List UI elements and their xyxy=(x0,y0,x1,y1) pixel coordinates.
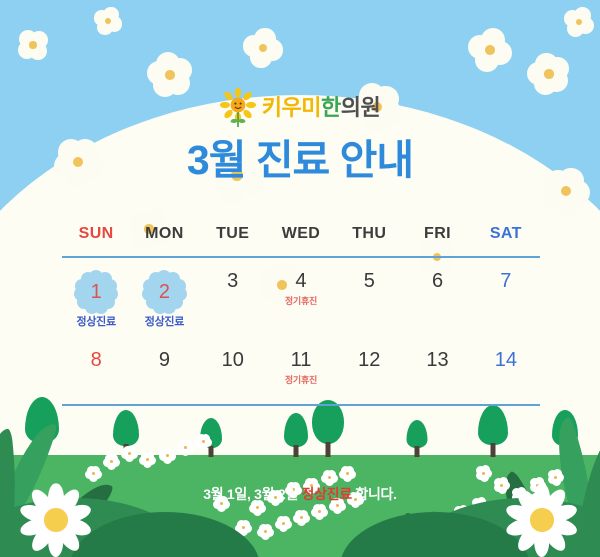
calendar-week-row: 1정상진료2정상진료34정기휴진567 xyxy=(62,258,540,333)
day-note-open: 정상진료 xyxy=(145,317,184,328)
sunflower-icon xyxy=(220,88,256,128)
day-number: 10 xyxy=(222,349,244,371)
footer-text-after: 합니다. xyxy=(352,486,397,502)
calendar-day-cell[interactable]: 5 xyxy=(335,270,403,333)
day-note-closed: 정기휴진 xyxy=(285,376,317,385)
calendar-day-cell[interactable]: 3 xyxy=(199,270,267,333)
calendar-day-cell[interactable]: 14 xyxy=(472,349,540,404)
weekday-header-fri: FRI xyxy=(403,225,471,243)
calendar-weekday-header: SUNMONTUEWEDTHUFRISAT xyxy=(62,225,540,243)
day-number: 2 xyxy=(159,282,170,302)
day-number: 5 xyxy=(364,270,375,292)
brand-name-part3: 의원 xyxy=(341,97,380,119)
weekday-header-tue: TUE xyxy=(199,225,267,243)
calendar-day-cell[interactable]: 1정상진료 xyxy=(62,270,130,333)
day-number: 1 xyxy=(91,282,102,302)
weekday-header-sat: SAT xyxy=(472,225,540,243)
brand-name-part2: 한 xyxy=(321,97,341,119)
daisy-flower-icon xyxy=(18,482,94,557)
day-badge: 2 xyxy=(142,270,186,314)
calendar-day-cell[interactable]: 12 xyxy=(335,349,403,404)
day-note-closed: 정기휴진 xyxy=(285,297,317,306)
calendar-day-cell[interactable]: 6 xyxy=(403,270,471,333)
brand-name: 키우미 한 의원 xyxy=(262,97,380,119)
brand-name-part1: 키우미 xyxy=(262,97,321,119)
poster-canvas: 키우미 한 의원 3월 진료 안내 SUNMONTUEWEDTHUFRISAT … xyxy=(0,0,600,557)
day-number: 7 xyxy=(500,270,511,292)
brand-logo: 키우미 한 의원 xyxy=(0,88,600,128)
weekday-header-wed: WED xyxy=(267,225,335,243)
day-number: 3 xyxy=(227,270,238,292)
calendar-day-cell[interactable]: 11정기휴진 xyxy=(267,349,335,404)
day-number: 13 xyxy=(426,349,448,371)
calendar-day-cell[interactable]: 4정기휴진 xyxy=(267,270,335,333)
day-number: 8 xyxy=(91,349,102,371)
calendar-day-cell[interactable]: 7 xyxy=(472,270,540,333)
day-number: 12 xyxy=(358,349,380,371)
calendar-day-cell[interactable]: 13 xyxy=(403,349,471,404)
day-number: 6 xyxy=(432,270,443,292)
day-number: 14 xyxy=(495,349,517,371)
weekday-header-mon: MON xyxy=(130,225,198,243)
calendar-day-cell[interactable]: 8 xyxy=(62,349,130,404)
footer-highlight: 정상진료 xyxy=(301,486,351,502)
calendar-day-cell[interactable]: 2정상진료 xyxy=(130,270,198,333)
day-number: 9 xyxy=(159,349,170,371)
calendar-bottom-divider xyxy=(62,404,540,406)
calendar-week-row: 891011정기휴진121314 xyxy=(62,333,540,404)
weekday-header-sun: SUN xyxy=(62,225,130,243)
day-number: 4 xyxy=(295,270,306,292)
day-number: 11 xyxy=(291,349,312,371)
calendar-day-cell[interactable]: 10 xyxy=(199,349,267,404)
day-note-open: 정상진료 xyxy=(77,317,116,328)
calendar-day-cell[interactable]: 9 xyxy=(130,349,198,404)
page-title: 3월 진료 안내 xyxy=(0,138,600,183)
daisy-flower-icon xyxy=(504,482,580,557)
day-badge: 1 xyxy=(74,270,118,314)
footer-text-before: 3월 1일, 3월 2일 xyxy=(203,486,301,502)
calendar: SUNMONTUEWEDTHUFRISAT 1정상진료2정상진료34정기휴진56… xyxy=(62,225,540,406)
weekday-header-thu: THU xyxy=(335,225,403,243)
